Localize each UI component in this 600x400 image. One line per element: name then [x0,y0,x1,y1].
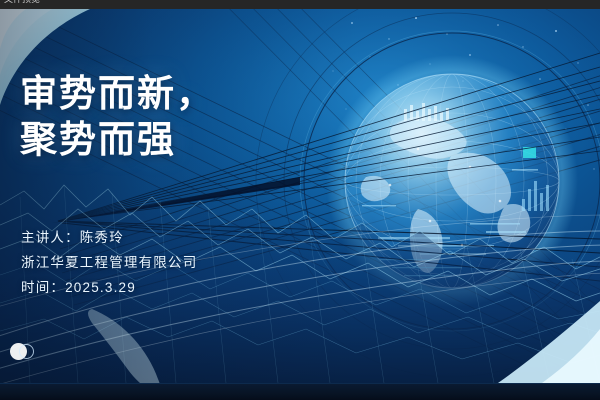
date-line: 时间：2025.3.29 [21,275,197,300]
window-titlebar[interactable]: 文件预览 [0,0,600,9]
organization-line: 浙江华夏工程管理有限公司 [21,250,197,275]
presenter-line: 主讲人：陈秀玲 [21,225,197,250]
outline-circle-icon [19,344,34,359]
headline-line-2: 聚势而强 [20,117,215,163]
text-vignette-layer [0,9,600,383]
slide-headline: 审势而新， 聚势而强 [20,71,215,163]
headline-line-1: 审势而新， [20,71,215,117]
slide-canvas: 审势而新， 聚势而强 主讲人：陈秀玲 浙江华夏工程管理有限公司 时间：2025.… [0,9,600,383]
titlebar-label: 文件预览 [4,0,40,4]
headline-text: 审势而新， 聚势而强 [20,71,215,163]
presentation-window: 文件预览 [0,0,600,400]
window-bottom-bar [0,383,600,400]
slide-meta-block: 主讲人：陈秀玲 浙江华夏工程管理有限公司 时间：2025.3.29 [21,225,197,300]
bottom-bar-divider [0,383,600,384]
